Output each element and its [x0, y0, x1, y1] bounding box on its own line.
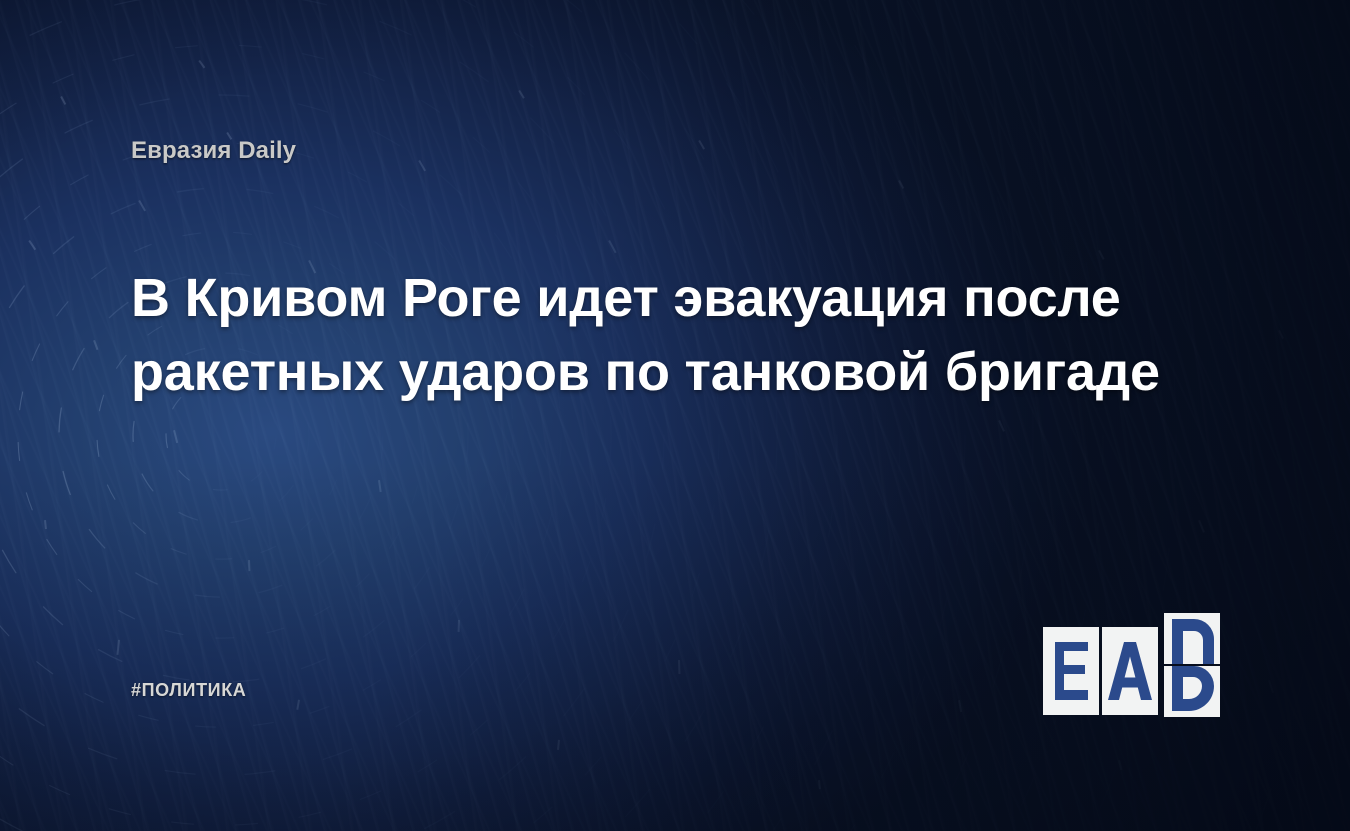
- logo-d-upper-half: [1164, 613, 1220, 664]
- news-card: Евразия Daily В Кривом Роге идет эвакуац…: [0, 0, 1350, 831]
- letter-a-icon: [1108, 642, 1152, 700]
- card-content: Евразия Daily В Кривом Роге идет эвакуац…: [0, 0, 1350, 831]
- letter-d-lower-icon: [1164, 666, 1220, 717]
- letter-d-upper-icon: [1164, 613, 1220, 664]
- letter-e-icon: [1051, 642, 1091, 700]
- logo-tile-e: [1043, 627, 1099, 715]
- page-title: В Кривом Роге идет эвакуация после ракет…: [131, 262, 1206, 410]
- logo-tile-d: [1164, 613, 1220, 701]
- brand-label: Евразия Daily: [131, 137, 296, 165]
- logo-d-lower-half: [1164, 666, 1220, 717]
- category-hashtag[interactable]: #ПОЛИТИКА: [131, 680, 246, 701]
- logo-tile-a: [1102, 627, 1158, 715]
- eadaily-logo[interactable]: [1043, 627, 1221, 715]
